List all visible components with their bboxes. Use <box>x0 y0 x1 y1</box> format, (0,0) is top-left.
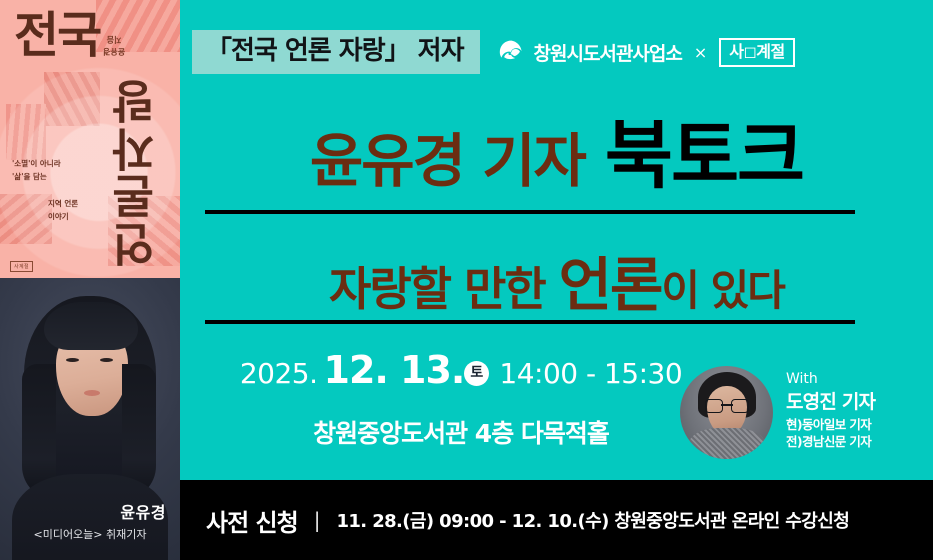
author-tag: 「전국 언론 자랑」 저자 <box>192 30 480 75</box>
book-cover-photo-tile <box>44 72 100 126</box>
book-author-credit: 윤유경 지음 <box>103 34 125 57</box>
speaker-portrait-photo: 윤유경 <미디어오늘> 취재기자 <box>0 278 180 560</box>
registration-bar: 사전 신청 | 11. 28.(금) 09:00 - 12. 10.(수) 창원… <box>180 480 933 560</box>
portrait-name: 윤유경 <box>0 499 180 523</box>
book-cover-photo-tile <box>0 194 52 244</box>
divider-rule-bottom <box>205 320 855 324</box>
guest-speaker-photo <box>680 366 773 459</box>
guest-speaker-block: With 도영진 기자 현)동아일보 기자 전)경남신문 기자 <box>680 366 930 459</box>
event-poster: 전국 언론 자랑 윤유경 지음 '소멸'이 아니라 '삶'을 담는 지역 언론 … <box>0 0 933 560</box>
book-subline-two: 지역 언론 이야기 <box>48 198 78 224</box>
headline-sub-b: 언론 <box>559 251 662 319</box>
event-year: 2025. <box>240 357 318 390</box>
headline-primary: 윤유경 기자북토크 <box>180 96 933 203</box>
brand-separator-icon: × <box>694 43 707 62</box>
book-publisher-mark: 사계절 <box>10 261 33 272</box>
registration-label: 사전 신청 <box>206 503 298 538</box>
book-cover-photo-tile <box>6 104 46 160</box>
headline-speaker: 윤유경 기자 <box>310 127 585 195</box>
brand-group: 창원시도서관사업소 × 사◻계절 <box>498 38 795 67</box>
headline-sub-c: 이 있다 <box>661 266 784 315</box>
headline-secondary: 자랑할 만한언론이 있다 <box>180 238 933 322</box>
glasses-bridge <box>721 404 733 406</box>
guest-shoulders <box>688 428 766 459</box>
header-row: 「전국 언론 자랑」 저자 창원시도서관사업소 × 사◻계절 <box>192 28 925 76</box>
swirl-logo-icon <box>498 39 525 66</box>
event-venue: 창원중앙도서관 4층 다목적홀 <box>226 414 696 450</box>
portrait-eye-left <box>66 358 79 362</box>
guest-speaker-text: With 도영진 기자 현)동아일보 기자 전)경남신문 기자 <box>786 366 875 451</box>
book-title-main: 전국 <box>14 12 100 60</box>
main-panel: 「전국 언론 자랑」 저자 창원시도서관사업소 × 사◻계절 윤유경 기자북토크… <box>180 0 933 560</box>
weekday-badge: 토 <box>464 361 489 386</box>
event-time: 14:00 - 15:30 <box>499 357 682 390</box>
registration-details: 11. 28.(금) 09:00 - 12. 10.(수) 창원중앙도서관 온라… <box>336 507 849 533</box>
registration-divider: | <box>314 508 321 532</box>
left-column: 전국 언론 자랑 윤유경 지음 '소멸'이 아니라 '삶'을 담는 지역 언론 … <box>0 0 180 560</box>
portrait-lips <box>84 390 100 396</box>
guest-affiliation-current: 현)동아일보 기자 <box>786 416 875 434</box>
portrait-role: <미디어오늘> 취재기자 <box>0 526 180 542</box>
book-subline-one: '소멸'이 아니라 '삶'을 담는 <box>12 158 61 184</box>
book-title-rotated: 언론 자랑 <box>96 76 172 267</box>
headline-sub-a: 자랑할 만한 <box>329 262 545 316</box>
event-datetime: 2025.12. 13.토14:00 - 15:30 <box>226 348 696 392</box>
portrait-bangs <box>44 302 138 350</box>
headline-event-type: 북토크 <box>605 113 803 199</box>
guest-name: 도영진 기자 <box>786 390 875 416</box>
portrait-eye-right <box>100 358 113 362</box>
guest-with-label: With <box>786 370 875 389</box>
brand-name: 창원시도서관사업소 <box>534 39 682 66</box>
event-month-day: 12. 13. <box>324 348 465 392</box>
portrait-caption: 윤유경 <미디어오늘> 취재기자 <box>0 499 180 542</box>
partner-logo: 사◻계절 <box>719 38 794 67</box>
divider-rule-top <box>205 210 855 214</box>
guest-affiliation-past: 전)경남신문 기자 <box>786 433 875 451</box>
book-cover-image: 전국 언론 자랑 윤유경 지음 '소멸'이 아니라 '삶'을 담는 지역 언론 … <box>0 0 180 278</box>
